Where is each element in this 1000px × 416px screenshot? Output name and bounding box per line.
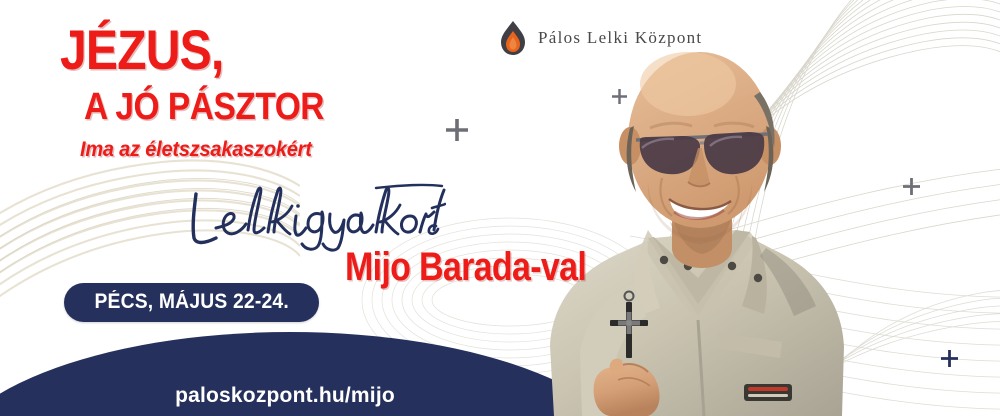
plus-mark-3 [903, 178, 920, 195]
location-badge: PÉCS, MÁJUS 22-24. [64, 283, 319, 322]
flame-icon [498, 20, 528, 56]
headline-subtitle: Ima az életszsakaszokért [80, 139, 312, 160]
headline-line-1: JÉZUS, [60, 22, 223, 78]
headline-line-2: A JÓ PÁSZTOR [84, 88, 324, 126]
speaker-name: Mijo Barada-val [345, 247, 586, 287]
plus-mark-2 [612, 89, 627, 104]
url-text[interactable]: paloskozpont.hu/mijo [110, 384, 460, 408]
speaker-portrait [522, 16, 872, 416]
location-badge-text: PÉCS, MÁJUS 22-24. [94, 291, 288, 312]
script-word-lelkigyakorlat [186, 182, 446, 252]
logo-text: Pálos Lelki Központ [538, 28, 702, 48]
promotional-banner: paloskozpont.hu/mijo [0, 0, 1000, 416]
plus-mark-4 [941, 350, 958, 367]
logo[interactable]: Pálos Lelki Központ [498, 20, 702, 56]
plus-mark-1 [446, 119, 468, 141]
